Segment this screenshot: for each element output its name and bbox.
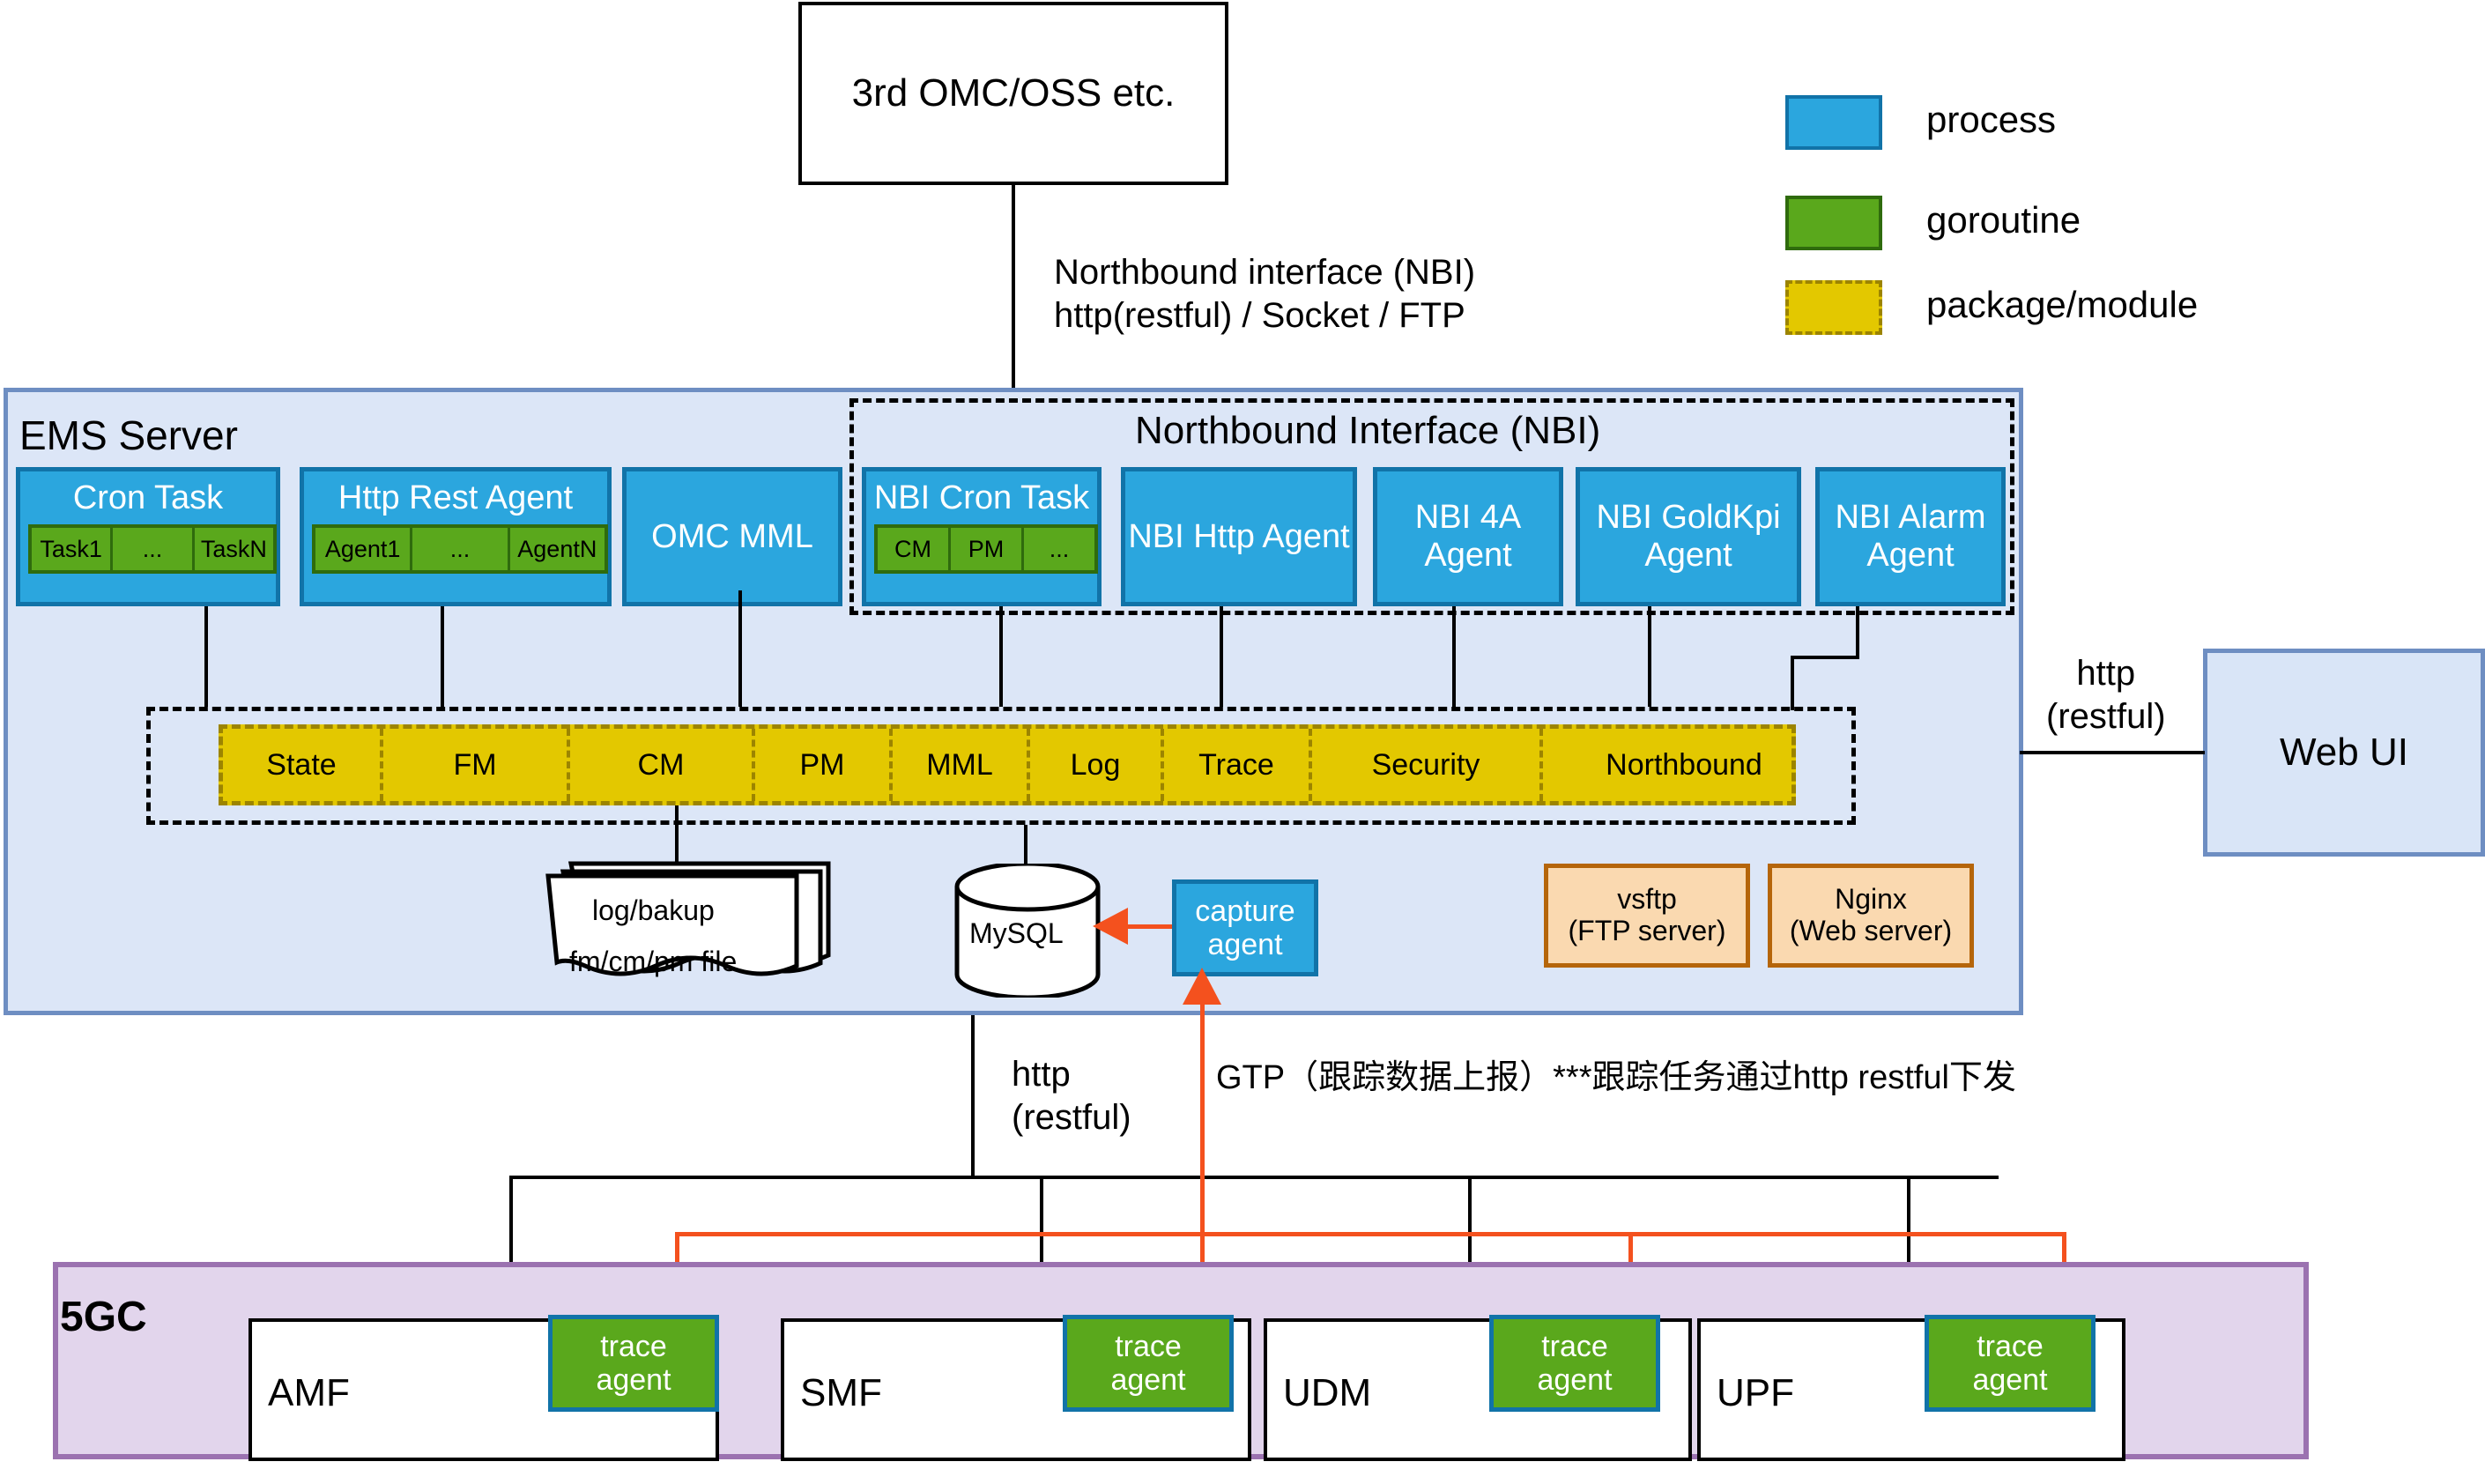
gc-title: 5GC bbox=[60, 1292, 147, 1344]
process-nbi-goldkpi-agent[interactable]: NBI GoldKpi Agent bbox=[1576, 467, 1801, 606]
legend-swatch-package-module bbox=[1785, 280, 1882, 335]
process-omc-mml-label: OMC MML bbox=[651, 518, 813, 556]
goroutine-cell: PM bbox=[951, 528, 1024, 570]
goroutine-group-cron-task: Task1 ... TaskN bbox=[28, 524, 277, 574]
process-capture-agent-label: capture agent bbox=[1195, 894, 1294, 961]
connector-ems-to-web-ui bbox=[2020, 751, 2205, 754]
module-mml[interactable]: MML bbox=[893, 729, 1030, 801]
process-nbi-alarm-agent[interactable]: NBI Alarm Agent bbox=[1815, 467, 2006, 606]
gtp-arrow-head-to-capture-agent bbox=[1181, 966, 1223, 1006]
nbi-link-label: Northbound interface (NBI) http(restful)… bbox=[1054, 251, 1475, 338]
process-http-rest-agent-label: Http Rest Agent bbox=[304, 480, 607, 517]
third-party-omc-oss-box: 3rd OMC/OSS etc. bbox=[798, 2, 1228, 185]
connector-nbi-alarm-agent-vert-lower bbox=[1791, 656, 1794, 710]
process-cron-task[interactable]: Cron Task Task1 ... TaskN bbox=[16, 467, 280, 606]
goroutine-group-http-rest-agent: Agent1 ... AgentN bbox=[312, 524, 608, 574]
goroutine-cell: TaskN bbox=[195, 528, 273, 570]
connector-nbi-http-agent bbox=[1220, 606, 1223, 707]
legend-label-process: process bbox=[1926, 97, 2056, 142]
gtp-bus-horizontal bbox=[675, 1232, 2066, 1236]
southbound-link-label: http (restful) bbox=[1012, 1053, 1131, 1139]
file-stack-label-line1: log/bakup bbox=[592, 894, 715, 928]
legend-label-goroutine: goroutine bbox=[1926, 197, 2081, 242]
connector-omc-mml bbox=[738, 590, 742, 707]
goroutine-cell: Task1 bbox=[32, 528, 113, 570]
process-nbi-http-agent[interactable]: NBI Http Agent bbox=[1121, 467, 1357, 606]
web-ui-box[interactable]: Web UI bbox=[2203, 649, 2485, 857]
module-security[interactable]: Security bbox=[1312, 729, 1543, 801]
process-nbi-alarm-agent-label: NBI Alarm Agent bbox=[1820, 499, 2001, 574]
goroutine-cell: ... bbox=[1024, 528, 1094, 570]
process-nbi-cron-task[interactable]: NBI Cron Task CM PM ... bbox=[862, 467, 1102, 606]
connector-log-to-files bbox=[675, 805, 679, 864]
trace-agent-udm-label: trace agent bbox=[1537, 1330, 1612, 1397]
vsftp-server-box: vsftp (FTP server) bbox=[1544, 864, 1750, 968]
trace-agent-upf-label: trace agent bbox=[1972, 1330, 2047, 1397]
module-pm[interactable]: PM bbox=[755, 729, 893, 801]
file-stack-label-line2: fm/cm/pm file bbox=[569, 945, 737, 979]
legend-swatch-goroutine bbox=[1785, 196, 1882, 250]
module-cm[interactable]: CM bbox=[570, 729, 755, 801]
process-nbi-http-agent-label: NBI Http Agent bbox=[1128, 518, 1349, 556]
nf-amf-label: AMF bbox=[268, 1369, 350, 1417]
web-ui-link-label: http (restful) bbox=[2046, 652, 2166, 738]
connector-http-rest-agent bbox=[441, 606, 444, 707]
nginx-sub: (Web server) bbox=[1790, 916, 1952, 947]
southbound-bus-horizontal bbox=[509, 1176, 1999, 1179]
goroutine-cell: ... bbox=[412, 528, 509, 570]
connector-cron-task bbox=[204, 606, 208, 707]
connector-nbi-alarm-agent-vert-upper bbox=[1856, 606, 1859, 656]
process-capture-agent[interactable]: capture agent bbox=[1172, 879, 1318, 976]
legend-swatch-process bbox=[1785, 95, 1882, 150]
process-nbi-cron-task-label: NBI Cron Task bbox=[866, 480, 1097, 517]
trace-agent-smf-label: trace agent bbox=[1110, 1330, 1185, 1397]
connector-nbi-goldkpi-agent bbox=[1648, 606, 1651, 707]
connector-module-to-mysql bbox=[1024, 825, 1027, 864]
module-state[interactable]: State bbox=[223, 729, 383, 801]
process-nbi-4a-agent[interactable]: NBI 4A Agent bbox=[1373, 467, 1563, 606]
connector-nbi-4a-agent bbox=[1452, 606, 1456, 707]
process-omc-mml[interactable]: OMC MML bbox=[622, 467, 842, 606]
nf-udm-label: UDM bbox=[1283, 1369, 1371, 1417]
third-party-omc-oss-label: 3rd OMC/OSS etc. bbox=[852, 71, 1176, 115]
module-northbound[interactable]: Northbound bbox=[1543, 729, 1825, 801]
process-nbi-goldkpi-agent-label: NBI GoldKpi Agent bbox=[1580, 499, 1797, 574]
process-nbi-4a-agent-label: NBI 4A Agent bbox=[1377, 499, 1559, 574]
process-http-rest-agent[interactable]: Http Rest Agent Agent1 ... AgentN bbox=[300, 467, 612, 606]
nf-smf-label: SMF bbox=[800, 1369, 882, 1417]
module-fm[interactable]: FM bbox=[383, 729, 570, 801]
legend-label-package-module: package/module bbox=[1926, 282, 2198, 327]
arrow-capture-to-mysql-head bbox=[1091, 906, 1130, 946]
goroutine-cell: CM bbox=[878, 528, 951, 570]
nginx-name: Nginx bbox=[1835, 884, 1907, 916]
vsftp-sub: (FTP server) bbox=[1569, 916, 1726, 947]
nginx-server-box: Nginx (Web server) bbox=[1768, 864, 1974, 968]
web-ui-label: Web UI bbox=[2280, 731, 2408, 774]
trace-agent-smf[interactable]: trace agent bbox=[1063, 1315, 1234, 1412]
mysql-database-label: MySQL bbox=[969, 916, 1064, 951]
trace-agent-amf[interactable]: trace agent bbox=[548, 1315, 719, 1412]
goroutine-cell: ... bbox=[113, 528, 194, 570]
ems-server-title: EMS Server bbox=[19, 411, 238, 460]
module-bar: State FM CM PM MML Log Trace Security No… bbox=[219, 724, 1796, 805]
nbi-connector-line bbox=[1012, 185, 1015, 392]
southbound-trunk-vertical bbox=[971, 1015, 975, 1176]
connector-nbi-alarm-agent-horz bbox=[1791, 656, 1859, 659]
nbi-group-title: Northbound Interface (NBI) bbox=[1135, 407, 1600, 455]
module-log[interactable]: Log bbox=[1030, 729, 1164, 801]
trace-agent-amf-label: trace agent bbox=[596, 1330, 671, 1397]
goroutine-cell: Agent1 bbox=[315, 528, 412, 570]
nf-upf-label: UPF bbox=[1717, 1369, 1794, 1417]
trace-agent-udm[interactable]: trace agent bbox=[1489, 1315, 1660, 1412]
trace-agent-upf[interactable]: trace agent bbox=[1925, 1315, 2096, 1412]
vsftp-name: vsftp bbox=[1617, 884, 1677, 916]
gtp-note-label: GTP（跟踪数据上报）***跟踪任务通过http restful下发 bbox=[1216, 1057, 2016, 1098]
connector-nbi-cron-task bbox=[999, 606, 1003, 707]
process-cron-task-label: Cron Task bbox=[20, 480, 276, 517]
goroutine-group-nbi-cron-task: CM PM ... bbox=[874, 524, 1098, 574]
gtp-trunk-vertical bbox=[1200, 976, 1205, 1232]
module-trace[interactable]: Trace bbox=[1164, 729, 1312, 801]
goroutine-cell: AgentN bbox=[510, 528, 605, 570]
